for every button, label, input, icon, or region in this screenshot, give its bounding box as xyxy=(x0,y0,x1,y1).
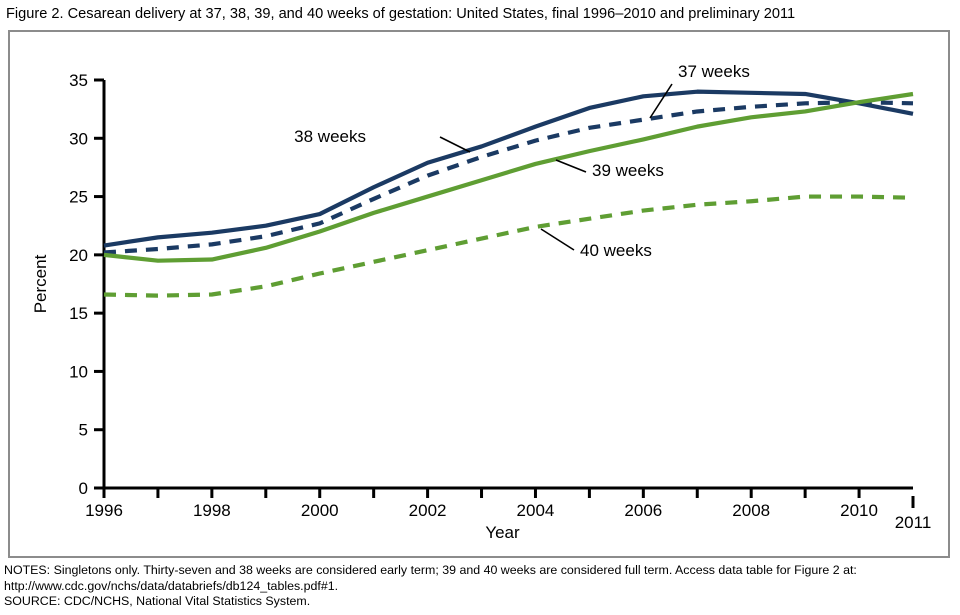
y-tick-label: 35 xyxy=(69,71,88,90)
chart-canvas: 0510152025303519961998200020022004200620… xyxy=(0,0,960,615)
x-tick-label: 2011 xyxy=(895,513,932,532)
series-annotation-39-weeks: 39 weeks xyxy=(592,161,664,180)
chart-axes: 0510152025303519961998200020022004200620… xyxy=(31,71,931,542)
series-annotation-38-weeks: 38 weeks xyxy=(294,127,366,146)
notes-line-2: http://www.cdc.gov/nchs/data/databriefs/… xyxy=(4,579,954,595)
y-tick-label: 25 xyxy=(69,188,88,207)
y-tick-label: 5 xyxy=(79,421,88,440)
series-annotation-40-weeks: 40 weeks xyxy=(580,241,652,260)
chart-notes: NOTES: Singletons only. Thirty-seven and… xyxy=(4,563,954,610)
y-tick-label: 30 xyxy=(69,129,88,148)
y-tick-label: 0 xyxy=(79,479,88,498)
x-tick-label: 1998 xyxy=(193,501,231,520)
x-tick-label: 2006 xyxy=(624,501,662,520)
y-tick-label: 20 xyxy=(69,246,88,265)
series-line-40-weeks xyxy=(104,197,913,296)
x-axis-title: Year xyxy=(485,523,520,542)
y-tick-label: 15 xyxy=(69,304,88,323)
x-tick-label: 2000 xyxy=(301,501,339,520)
series-annotation-37-weeks: 37 weeks xyxy=(678,62,750,81)
x-tick-label: 2004 xyxy=(517,501,555,520)
x-tick-label: 2002 xyxy=(409,501,447,520)
y-tick-label: 10 xyxy=(69,362,88,381)
y-axis-title: Percent xyxy=(31,254,50,313)
chart-series xyxy=(104,92,913,296)
x-tick-label: 1996 xyxy=(85,501,123,520)
series-line-39-weeks xyxy=(104,94,913,261)
notes-line-3: SOURCE: CDC/NCHS, National Vital Statist… xyxy=(4,594,954,610)
notes-line-1: NOTES: Singletons only. Thirty-seven and… xyxy=(4,563,954,579)
x-tick-label: 2008 xyxy=(732,501,770,520)
x-tick-label: 2010 xyxy=(840,501,878,520)
